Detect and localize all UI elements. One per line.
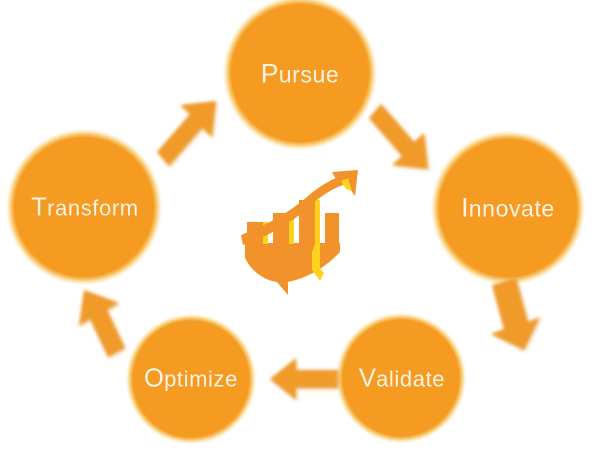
growth-icon-bar-accent-3	[315, 200, 320, 244]
node-circle-transform[interactable]	[5, 128, 163, 286]
growth-chart-arrow-icon	[241, 170, 358, 295]
node-circle-pursue[interactable]	[222, 0, 378, 151]
connector-arrow-pursue-to-innovate[interactable]	[369, 104, 428, 169]
connector-arrow-optimize-to-transform[interactable]	[79, 290, 125, 357]
connector-arrow-transform-to-pursue[interactable]	[157, 101, 216, 166]
connector-arrow-innovate-to-validate[interactable]	[491, 278, 540, 350]
node-circle-validate[interactable]	[335, 312, 467, 444]
node-circle-innovate[interactable]	[430, 130, 586, 286]
growth-icon-bar-4	[325, 213, 339, 244]
growth-icon-base-swoosh	[245, 243, 340, 295]
cycle-diagram-canvas	[0, 0, 600, 451]
connector-arrow-validate-to-optimize[interactable]	[270, 358, 338, 400]
cycle-diagram: Pursue Innovate Validate Optimize Transf…	[0, 0, 600, 451]
node-circle-optimize[interactable]	[125, 313, 257, 445]
